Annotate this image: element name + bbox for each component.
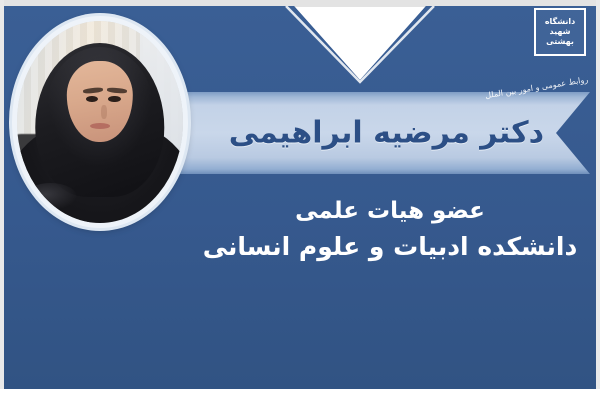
left-edge-strip [0,0,4,392]
university-logo-mark-text: دانشگاه شهید بهشتی [545,17,575,47]
right-edge-strip [596,0,600,392]
faculty-announcement-card: دکتر مرضیه ابراهیمی [0,0,600,400]
lips [90,123,110,129]
portrait-ring [12,16,188,228]
university-logo-mark-icon: دانشگاه شهید بهشتی [534,8,586,56]
role-label: عضو هیات علمی [190,196,590,228]
right-eye [108,96,120,102]
university-logo: دانشگاه شهید بهشتی روابط عمومی و امور بی… [504,6,590,84]
bottom-white-band [0,389,600,400]
portrait [12,16,188,228]
subtitle-block: عضو هیات علمی دانشکده ادبیات و علوم انسا… [190,196,590,264]
person-name: دکتر مرضیه ابراهیمی [229,116,544,151]
portrait-photo [17,21,183,223]
faculty-label: دانشکده ادبیات و علوم انسانی [190,230,590,265]
nose [101,105,107,119]
shoulder-highlight [24,183,77,211]
